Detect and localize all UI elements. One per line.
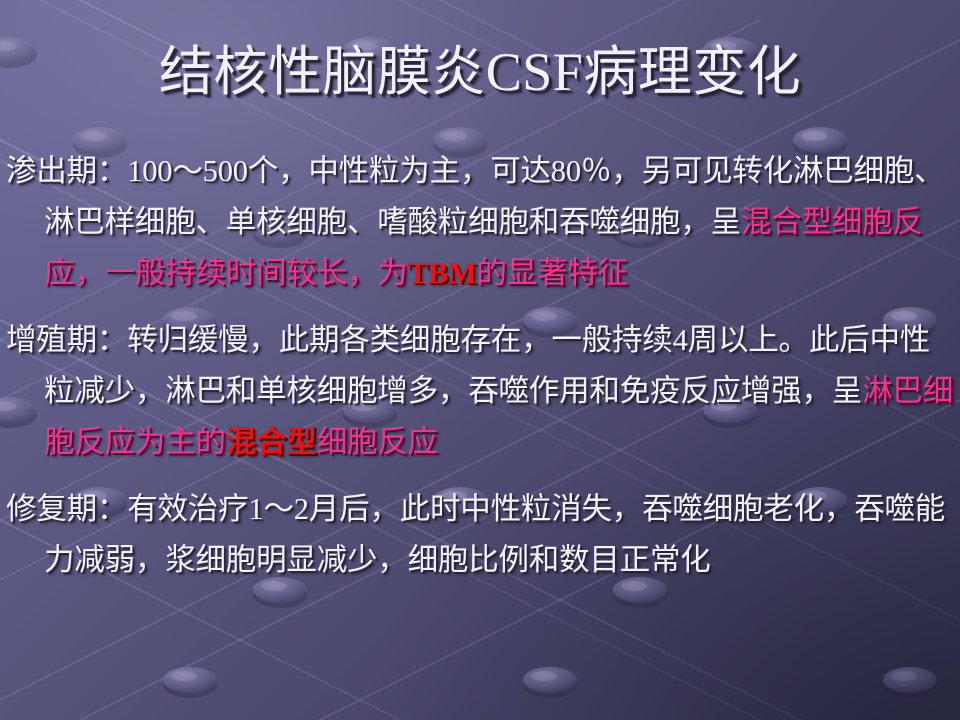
paragraph-proliferative-stage: 增殖期：转归缓慢，此期各类细胞存在，一般持续4周以上。此后中性粒减少，淋巴和单核… bbox=[6, 315, 954, 468]
paragraph-1-run-2-abbreviation: TBM bbox=[408, 256, 477, 290]
paragraph-2-lead: 增殖期： bbox=[6, 323, 127, 357]
paragraph-2-run-3-highlight: 细胞反应 bbox=[317, 425, 438, 459]
slide-title-container: 结核性脑膜炎CSF病理变化 bbox=[0, 44, 960, 101]
paragraph-2-run-2-highlight: 混合型 bbox=[226, 425, 317, 459]
paragraph-2-run-0: 转归缓慢，此期各类细胞存在，一般持续4周以上。此后中性粒减少，淋巴和单核细胞增多… bbox=[44, 323, 930, 408]
paragraph-1-lead: 渗出期： bbox=[6, 154, 127, 188]
paragraph-exudative-stage: 渗出期：100～500个，中性粒为主，可达80％，另可见转化淋巴细胞、淋巴样细胞… bbox=[6, 146, 954, 299]
page-title: 结核性脑膜炎CSF病理变化 bbox=[159, 44, 802, 101]
slide-body-container: 渗出期：100～500个，中性粒为主，可达80％，另可见转化淋巴细胞、淋巴样细胞… bbox=[6, 146, 954, 586]
paragraph-3-run-0: 有效治疗1～2月后，此时中性粒消失，吞噬细胞老化，吞噬能力减弱，浆细胞明显减少，… bbox=[44, 492, 945, 577]
slide-canvas: 结核性脑膜炎CSF病理变化 渗出期：100～500个，中性粒为主，可达80％，另… bbox=[0, 0, 960, 720]
paragraph-1-run-3-highlight: 的显著特征 bbox=[476, 256, 628, 290]
paragraph-3-lead: 修复期： bbox=[6, 492, 127, 526]
paragraph-repair-stage: 修复期：有效治疗1～2月后，此时中性粒消失，吞噬细胞老化，吞噬能力减弱，浆细胞明… bbox=[6, 484, 954, 586]
